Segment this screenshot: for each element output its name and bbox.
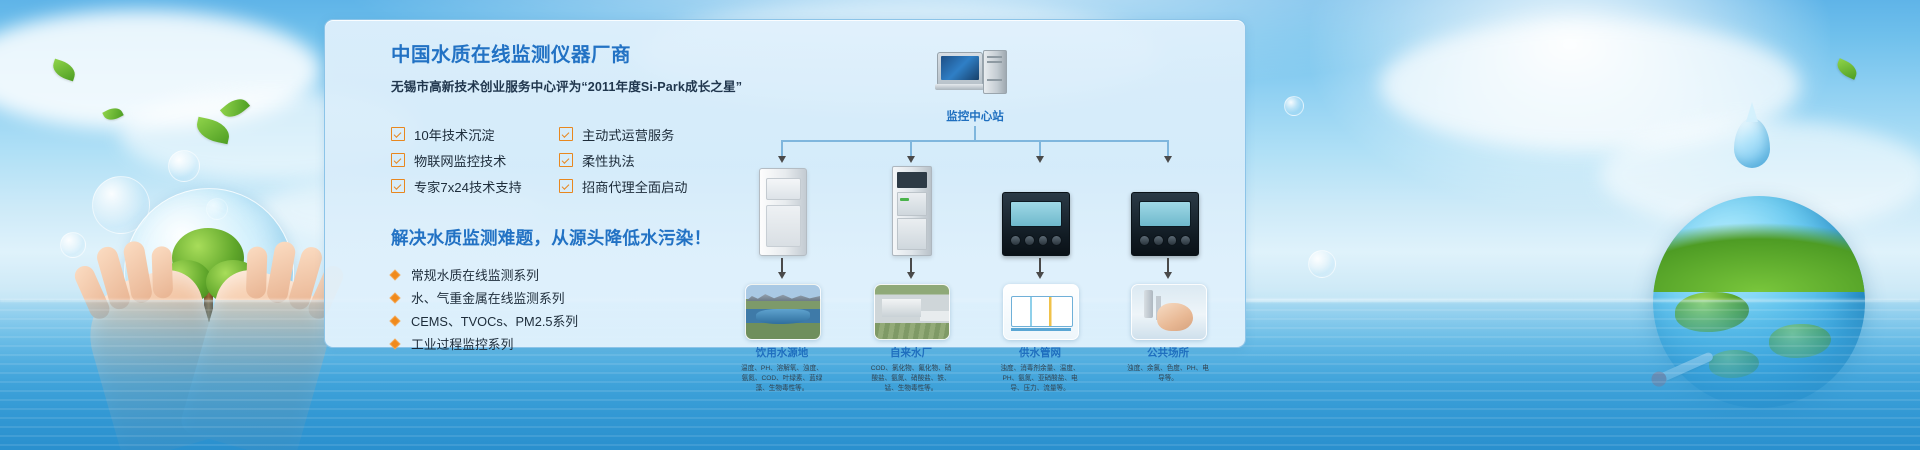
product-series-list: 常规水质在线监测系列 水、气重金属在线监测系列 CEMS、TVOCs、PM2.5… xyxy=(391,263,721,355)
scene-card[interactable]: 公共场所 浊度、余氯、色度、PH、电导等。 xyxy=(1131,284,1205,384)
monitoring-center-label: 监控中心站 xyxy=(895,108,1055,124)
faucet-handwash-photo xyxy=(1131,284,1207,340)
checkbox-checked-icon xyxy=(391,127,405,141)
scene-caption: 供水管网 xyxy=(1003,345,1077,360)
checklist-item-label: 主动式运营服务 xyxy=(582,125,674,144)
diamond-bullet-icon xyxy=(389,338,400,349)
device-panel-controller-1 xyxy=(1000,164,1072,256)
desktop-computer-icon xyxy=(937,50,1007,98)
checkbox-checked-icon xyxy=(391,179,405,193)
checklist-item[interactable]: 物联网监控技术 xyxy=(391,147,559,173)
connector-horizontal xyxy=(781,140,1169,142)
checklist-item[interactable]: 招商代理全面启动 xyxy=(559,173,721,199)
page-title: 中国水质在线监测仪器厂商 xyxy=(391,43,721,68)
checklist-item[interactable]: 主动式运营服务 xyxy=(559,121,721,147)
arrow-down-icon xyxy=(907,156,915,163)
river-mountain-photo xyxy=(745,284,821,340)
panel-text-column: 中国水质在线监测仪器厂商 无锡市高新技术创业服务中心评为“2011年度Si-Pa… xyxy=(391,43,721,355)
scene-card[interactable]: 饮用水源地 温度、PH、溶解氧、浊度、氨氮、COD、叶绿素、蓝绿藻、生物毒性等。 xyxy=(745,284,819,395)
finger xyxy=(246,246,268,299)
system-architecture-diagram: 监控中心站 xyxy=(745,36,1225,336)
list-item[interactable]: CEMS、TVOCs、PM2.5系列 xyxy=(391,309,721,332)
device-rack-analyzer xyxy=(876,164,948,256)
diamond-bullet-icon xyxy=(389,292,400,303)
bubble-icon xyxy=(1284,96,1304,116)
checkbox-checked-icon xyxy=(559,153,573,167)
checklist-item-label: 招商代理全面启动 xyxy=(582,177,688,196)
device-cabinet-analyzer xyxy=(747,164,819,256)
checklist-item[interactable]: 10年技术沉淀 xyxy=(391,121,559,147)
section-title: 解决水质监测难题，从源头降低水污染！ xyxy=(391,225,721,250)
arrow-down-icon xyxy=(1036,272,1044,279)
arrow-down-icon xyxy=(1164,272,1172,279)
page-subtitle: 无锡市高新技术创业服务中心评为“2011年度Si-Park成长之星” xyxy=(391,76,721,95)
globe-grass xyxy=(1653,196,1865,292)
pipe-network-diagram-photo xyxy=(1003,284,1079,340)
water-plant-photo xyxy=(874,284,950,340)
arrow-down-icon xyxy=(778,156,786,163)
analyzer-cabinet-icon xyxy=(759,168,807,256)
monitor-screen xyxy=(941,56,979,80)
scene-card[interactable]: 供水管网 浊度、消毒剂余量、温度、PH、氨氮、亚硝酸盐、电导、压力、流量等。 xyxy=(1003,284,1077,395)
connector-vertical xyxy=(974,126,976,140)
list-item-label: 工业过程监控系列 xyxy=(411,334,513,353)
diamond-bullet-icon xyxy=(389,315,400,326)
bubble-icon xyxy=(168,150,200,182)
list-item[interactable]: 工业过程监控系列 xyxy=(391,332,721,355)
scene-caption: 自来水厂 xyxy=(874,345,948,360)
checkbox-checked-icon xyxy=(559,127,573,141)
scene-card[interactable]: 自来水厂 COD、氯化物、氟化物、硝酸盐、氨氮、硝酸盐、铁、锰、生物毒性等。 xyxy=(874,284,948,395)
arrow-down-icon xyxy=(1164,156,1172,163)
list-item[interactable]: 常规水质在线监测系列 xyxy=(391,263,721,286)
checkbox-checked-icon xyxy=(559,179,573,193)
controller-screen xyxy=(1010,201,1062,227)
arrow-down-icon xyxy=(907,272,915,279)
checklist-item-label: 物联网监控技术 xyxy=(414,151,506,170)
checkbox-checked-icon xyxy=(391,153,405,167)
controller-screen xyxy=(1139,201,1191,227)
checklist-item-label: 专家7x24技术支持 xyxy=(414,177,522,196)
scene-description: COD、氯化物、氟化物、硝酸盐、氨氮、硝酸盐、铁、锰、生物毒性等。 xyxy=(868,364,954,395)
panel-controller-icon xyxy=(1002,192,1070,256)
scene-caption: 饮用水源地 xyxy=(745,345,819,360)
checklist-item[interactable]: 专家7x24技术支持 xyxy=(391,173,559,199)
diamond-bullet-icon xyxy=(389,269,400,280)
monitor xyxy=(937,52,983,86)
scene-description: 温度、PH、溶解氧、浊度、氨氮、COD、叶绿素、蓝绿藻、生物毒性等。 xyxy=(739,364,825,395)
content-panel: 中国水质在线监测仪器厂商 无锡市高新技术创业服务中心评为“2011年度Si-Pa… xyxy=(324,19,1246,348)
pc-tower xyxy=(983,50,1007,94)
list-item-label: 水、气重金属在线监测系列 xyxy=(411,288,565,307)
panel-controller-icon xyxy=(1131,192,1199,256)
scene-caption: 公共场所 xyxy=(1131,345,1205,360)
list-item-label: 常规水质在线监测系列 xyxy=(411,265,539,284)
arrow-down-icon xyxy=(778,272,786,279)
list-item[interactable]: 水、气重金属在线监测系列 xyxy=(391,286,721,309)
feature-checklist: 10年技术沉淀 主动式运营服务 物联网监控技术 柔性执法 专家7x24技术支持 … xyxy=(391,121,721,199)
keyboard xyxy=(935,84,984,90)
checklist-item-label: 10年技术沉淀 xyxy=(414,125,495,144)
scene-description: 浊度、余氯、色度、PH、电导等。 xyxy=(1125,364,1211,384)
finger xyxy=(151,246,173,299)
analyzer-rack-icon xyxy=(892,166,932,256)
device-panel-controller-2 xyxy=(1129,164,1201,256)
arrow-down-icon xyxy=(1036,156,1044,163)
checklist-item[interactable]: 柔性执法 xyxy=(559,147,721,173)
scene-description: 浊度、消毒剂余量、温度、PH、氨氮、亚硝酸盐、电导、压力、流量等。 xyxy=(997,364,1083,395)
bubble-icon xyxy=(1308,250,1336,278)
list-item-label: CEMS、TVOCs、PM2.5系列 xyxy=(411,311,578,330)
checklist-item-label: 柔性执法 xyxy=(582,151,635,170)
